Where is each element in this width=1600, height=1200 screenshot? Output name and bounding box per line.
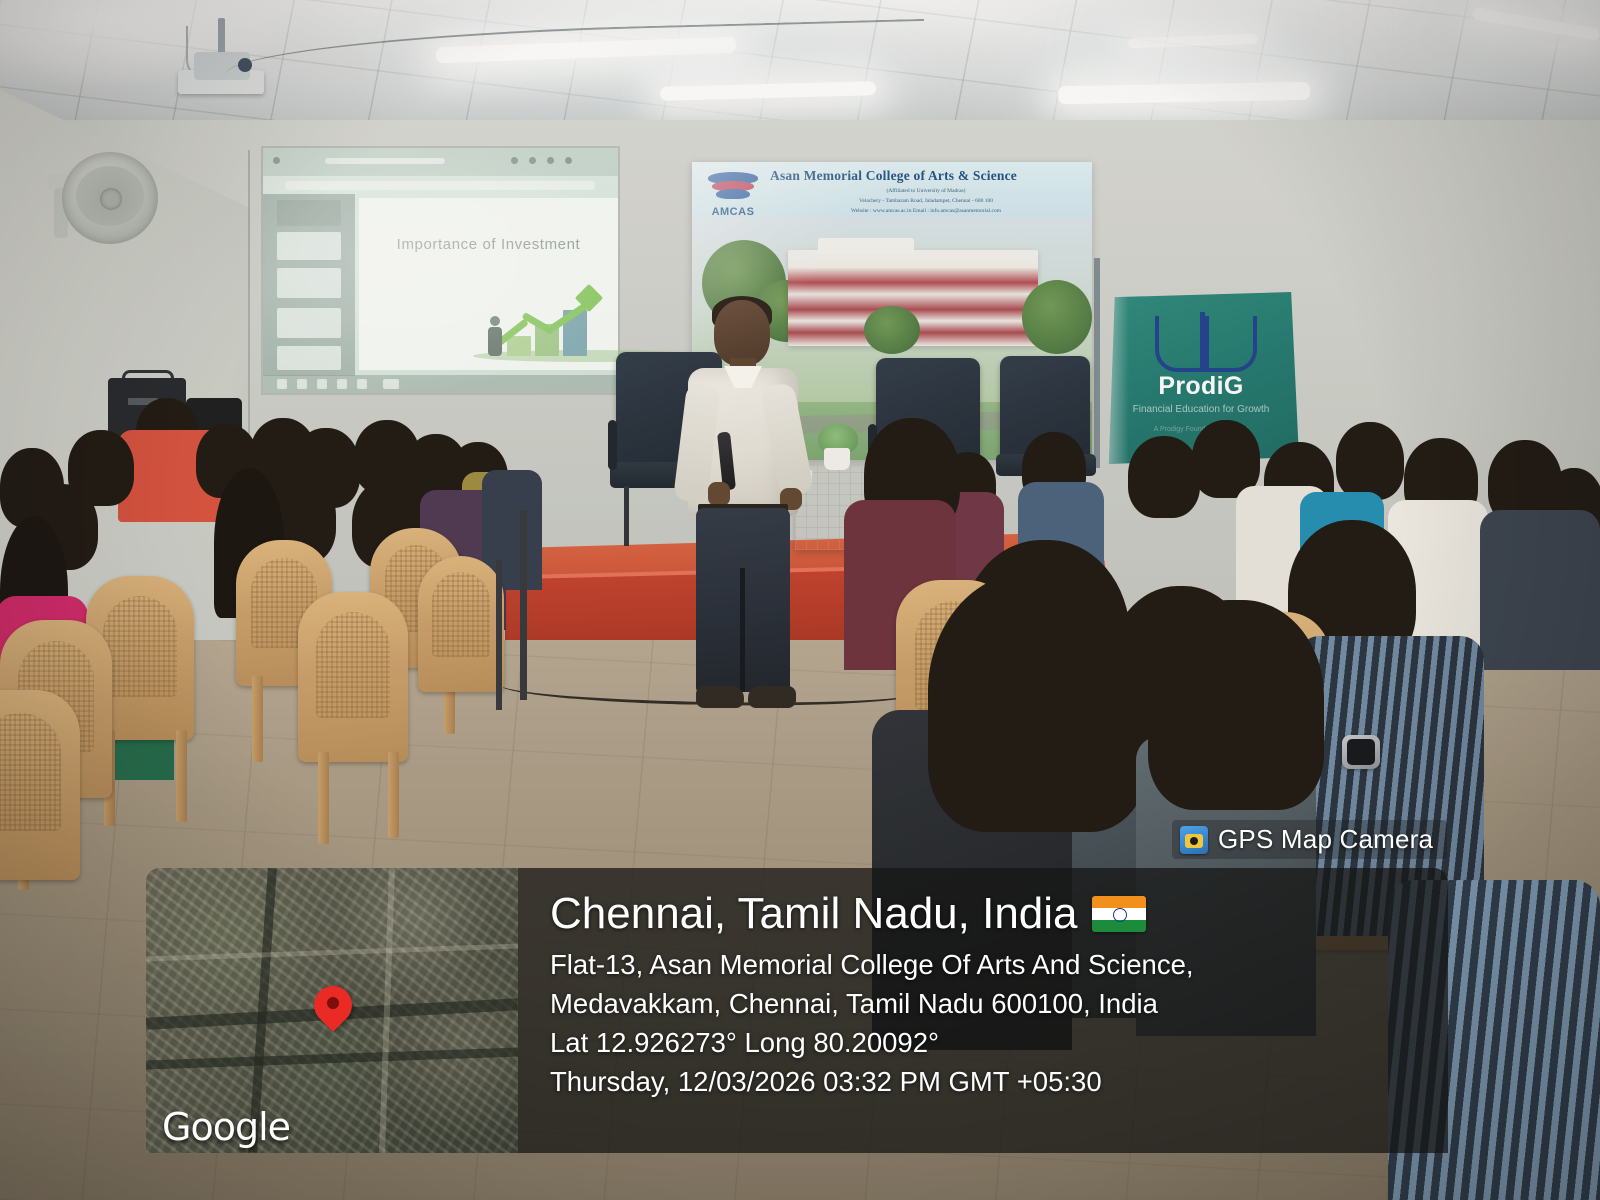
book-page-right bbox=[1205, 316, 1257, 372]
prodig-wordmark: ProdiG bbox=[1103, 372, 1299, 401]
gps-map-camera-badge: GPS Map Camera bbox=[1172, 820, 1447, 859]
presenter-trouser-seam bbox=[740, 568, 745, 692]
banner-stand-pole bbox=[1094, 258, 1100, 468]
gps-datetime: Thursday, 12/03/2026 03:32 PM GMT +05:30 bbox=[550, 1062, 1422, 1101]
gps-app-name: GPS Map Camera bbox=[1218, 824, 1433, 855]
projector-light-glow bbox=[263, 148, 618, 393]
map-thumbnail: Google bbox=[146, 868, 518, 1153]
presenter-left-shoe bbox=[696, 686, 744, 708]
book-spine bbox=[1200, 312, 1205, 368]
presenter bbox=[672, 300, 822, 730]
plastic-chair-leg bbox=[388, 752, 399, 838]
prodig-tagline: Financial Education for Growth bbox=[1103, 404, 1299, 415]
gps-location-heading: Chennai, Tamil Nadu, India bbox=[550, 890, 1422, 938]
fan-hub bbox=[100, 188, 122, 210]
gps-location-text: Chennai, Tamil Nadu, India bbox=[550, 890, 1078, 938]
audience-head-foreground bbox=[928, 572, 1148, 832]
metal-chair-leg bbox=[520, 510, 527, 700]
presenter-left-hand bbox=[708, 482, 730, 506]
gps-coordinates: Lat 12.926273° Long 80.20092° bbox=[550, 1023, 1422, 1062]
presenter-right-shoe bbox=[748, 686, 796, 708]
gps-address-line-2: Medavakkam, Chennai, Tamil Nadu 600100, … bbox=[550, 984, 1422, 1023]
map-pin-icon bbox=[314, 986, 352, 1024]
smartwatch bbox=[1342, 735, 1380, 769]
stage-chair-leg bbox=[624, 486, 629, 546]
audience-body bbox=[1480, 510, 1600, 670]
plastic-chair bbox=[418, 556, 504, 692]
plastic-chair bbox=[298, 592, 408, 762]
plastic-chair bbox=[0, 690, 80, 880]
screenshot-root: Importance of Investment bbox=[0, 0, 1600, 1200]
presenter-head bbox=[714, 300, 770, 366]
audience-head-foreground bbox=[1148, 600, 1324, 810]
open-book-icon bbox=[1155, 308, 1251, 368]
gps-info-panel: Google Chennai, Tamil Nadu, India Flat-1… bbox=[146, 868, 1448, 1153]
metal-chair-leg bbox=[496, 560, 502, 710]
audience-head bbox=[1128, 436, 1200, 518]
audience-head bbox=[1336, 422, 1404, 500]
wall-fan bbox=[48, 148, 160, 256]
plastic-chair-leg bbox=[252, 676, 263, 762]
projection-screen: Importance of Investment bbox=[263, 148, 618, 393]
map-pin-hole bbox=[327, 997, 339, 1009]
google-watermark: Google bbox=[162, 1105, 290, 1149]
india-flag-icon bbox=[1092, 896, 1146, 932]
gps-details: Chennai, Tamil Nadu, India Flat-13, Asan… bbox=[518, 868, 1448, 1153]
potted-plant-pot bbox=[824, 448, 850, 470]
plastic-chair-leg bbox=[176, 730, 187, 822]
stage-chair-armrest bbox=[608, 420, 617, 470]
camera-app-icon bbox=[1180, 826, 1208, 854]
gps-address-line-1: Flat-13, Asan Memorial College Of Arts A… bbox=[550, 945, 1422, 984]
plastic-chair-leg bbox=[318, 752, 329, 844]
